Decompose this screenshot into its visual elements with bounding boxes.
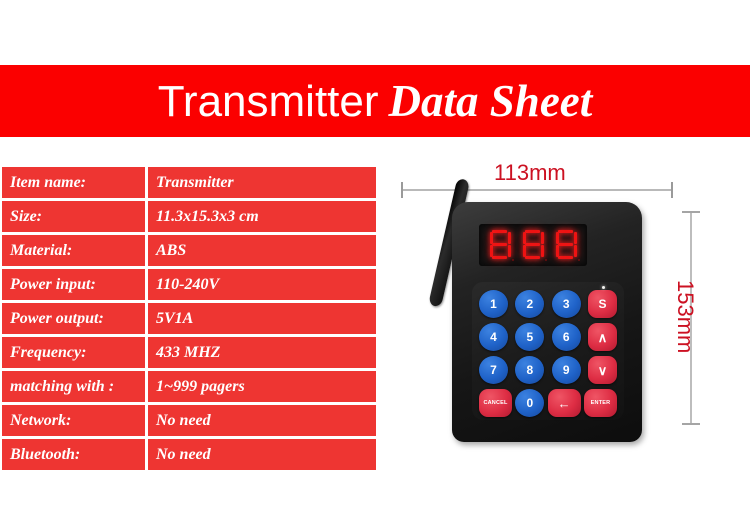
keypad-panel: 123S456∧789∨CANCEL0←ENTER [472,282,624,420]
table-cell-label: Power output: [2,303,145,334]
page-title-main: Transmitter [158,77,379,126]
table-cell-value: 11.3x15.3x3 cm [148,201,376,232]
keypad-key-s[interactable]: S [588,290,617,318]
table-row: Item name:Transmitter [2,167,376,198]
keypad-row: 456∧ [479,323,617,351]
dimension-label-width: 113mm [494,160,566,186]
table-cell-label: Material: [2,235,145,266]
display-segment [490,245,493,257]
display-decimal-point [545,259,547,261]
page-title-italic: Data Sheet [389,76,593,126]
display-segment [574,245,577,257]
product-photo: 113mm 153mm 123S456∧789∨CANCEL0←ENTER [390,150,750,480]
table-row: Bluetooth:No need [2,439,376,470]
keypad-key-4[interactable]: 4 [479,323,508,351]
display-segment [508,245,511,257]
dimension-tick-width-left [401,182,403,198]
header-banner: TransmitterData Sheet [0,65,750,137]
keypad-key-[interactable]: ∨ [588,356,617,384]
display-segment [541,232,544,244]
display-segment [523,245,526,257]
table-cell-value: 110-240V [148,269,376,300]
display-segment [492,243,507,246]
table-cell-label: Power input: [2,269,145,300]
transmitter-device: 123S456∧789∨CANCEL0←ENTER [452,202,642,442]
keypad-key-cancel[interactable]: CANCEL [479,389,512,417]
dimension-tick-width-right [671,182,673,198]
dimension-tick-height-top [682,211,700,213]
status-led-icon [602,286,605,289]
display-digit [554,229,578,261]
table-row: matching with :1~999 pagers [2,371,376,402]
dimension-label-height: 153mm [672,280,698,353]
table-row: Material:ABS [2,235,376,266]
keypad-key-enter[interactable]: ENTER [584,389,617,417]
keypad-key-7[interactable]: 7 [479,356,508,384]
table-cell-label: Frequency: [2,337,145,368]
keypad-key-[interactable]: ∧ [588,323,617,351]
table-cell-label: Bluetooth: [2,439,145,470]
table-cell-value: ABS [148,235,376,266]
keypad-key-5[interactable]: 5 [515,323,544,351]
display-segment [558,230,573,233]
seven-segment-display [479,224,587,266]
table-cell-label: matching with : [2,371,145,402]
keypad-key-9[interactable]: 9 [552,356,581,384]
keypad-key-1[interactable]: 1 [479,290,508,318]
display-segment [525,243,540,246]
keypad-key-3[interactable]: 3 [552,290,581,318]
keypad-key-0[interactable]: 0 [515,389,544,417]
table-cell-value: 433 MHZ [148,337,376,368]
page-title: TransmitterData Sheet [158,79,593,124]
display-segment [541,245,544,257]
keypad-key-2[interactable]: 2 [515,290,544,318]
keypad-key-[interactable]: ← [548,389,581,417]
display-decimal-point [578,259,580,261]
keypad-row: CANCEL0←ENTER [479,389,617,417]
display-decimal-point [512,259,514,261]
table-cell-label: Item name: [2,167,145,198]
table-row: Network:No need [2,405,376,436]
table-row: Frequency:433 MHZ [2,337,376,368]
table-cell-value: 5V1A [148,303,376,334]
display-segment [574,232,577,244]
keypad-row: 123S [479,290,617,318]
display-segment [492,256,507,259]
display-segment [508,232,511,244]
table-cell-value: Transmitter [148,167,376,198]
dimension-tick-height-bottom [682,423,700,425]
keypad-row: 789∨ [479,356,617,384]
display-segment [556,245,559,257]
table-cell-label: Size: [2,201,145,232]
spec-table: Item name:TransmitterSize:11.3x15.3x3 cm… [2,167,376,470]
display-segment [558,243,573,246]
display-segment [492,230,507,233]
table-row: Power output:5V1A [2,303,376,334]
table-row: Size:11.3x15.3x3 cm [2,201,376,232]
keypad-key-6[interactable]: 6 [552,323,581,351]
table-row: Power input:110-240V [2,269,376,300]
display-segment [558,256,573,259]
display-segment [525,230,540,233]
display-digit [488,229,512,261]
table-cell-value: 1~999 pagers [148,371,376,402]
table-cell-value: No need [148,439,376,470]
dimension-line-width [402,189,672,191]
display-digit [521,229,545,261]
table-cell-label: Network: [2,405,145,436]
keypad-key-8[interactable]: 8 [515,356,544,384]
display-segment [525,256,540,259]
table-cell-value: No need [148,405,376,436]
